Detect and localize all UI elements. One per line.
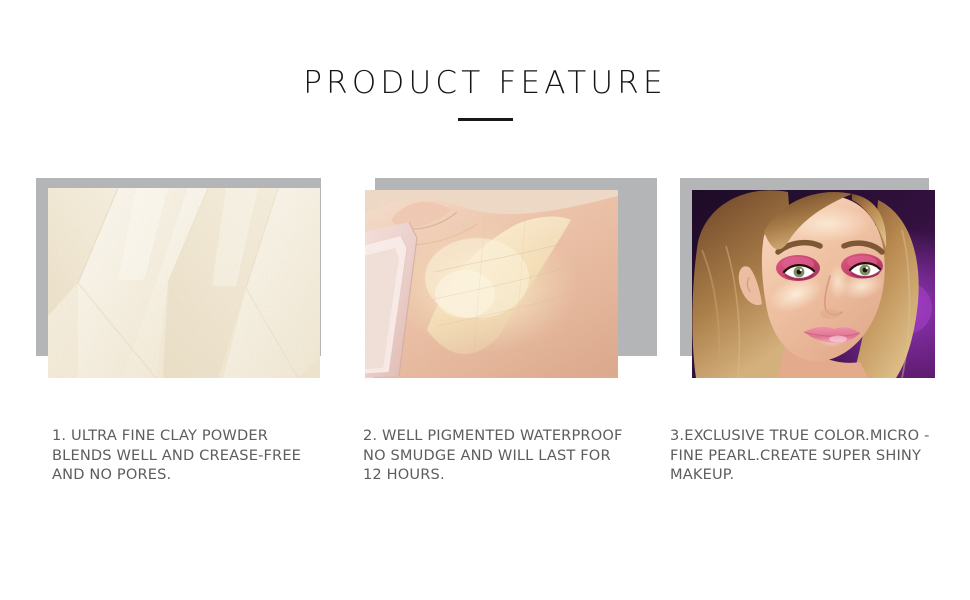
feature-photo-2 <box>365 190 618 378</box>
feature-panels: 1. ULTRA FINE CLAY POWDER BLENDS WELL AN… <box>0 0 970 600</box>
highlighter-powder-texture-icon <box>48 188 320 378</box>
feature-panel-1: 1. ULTRA FINE CLAY POWDER BLENDS WELL AN… <box>0 0 345 600</box>
feature-caption-3: 3.EXCLUSIVE TRUE COLOR.MICRO -FINE PEARL… <box>670 426 950 485</box>
model-makeup-look-icon <box>692 190 935 378</box>
swatch-on-hand-icon <box>365 190 618 378</box>
product-feature-page: PRODUCT FEATURE <box>0 0 970 600</box>
feature-caption-1: 1. ULTRA FINE CLAY POWDER BLENDS WELL AN… <box>52 426 320 485</box>
feature-panel-3: 3.EXCLUSIVE TRUE COLOR.MICRO -FINE PEARL… <box>660 0 970 600</box>
feature-caption-2: 2. WELL PIGMENTED WATERPROOF NO SMUDGE A… <box>363 426 631 485</box>
feature-photo-3 <box>692 190 935 378</box>
feature-photo-1 <box>48 188 320 378</box>
feature-panel-2: 2. WELL PIGMENTED WATERPROOF NO SMUDGE A… <box>345 0 660 600</box>
